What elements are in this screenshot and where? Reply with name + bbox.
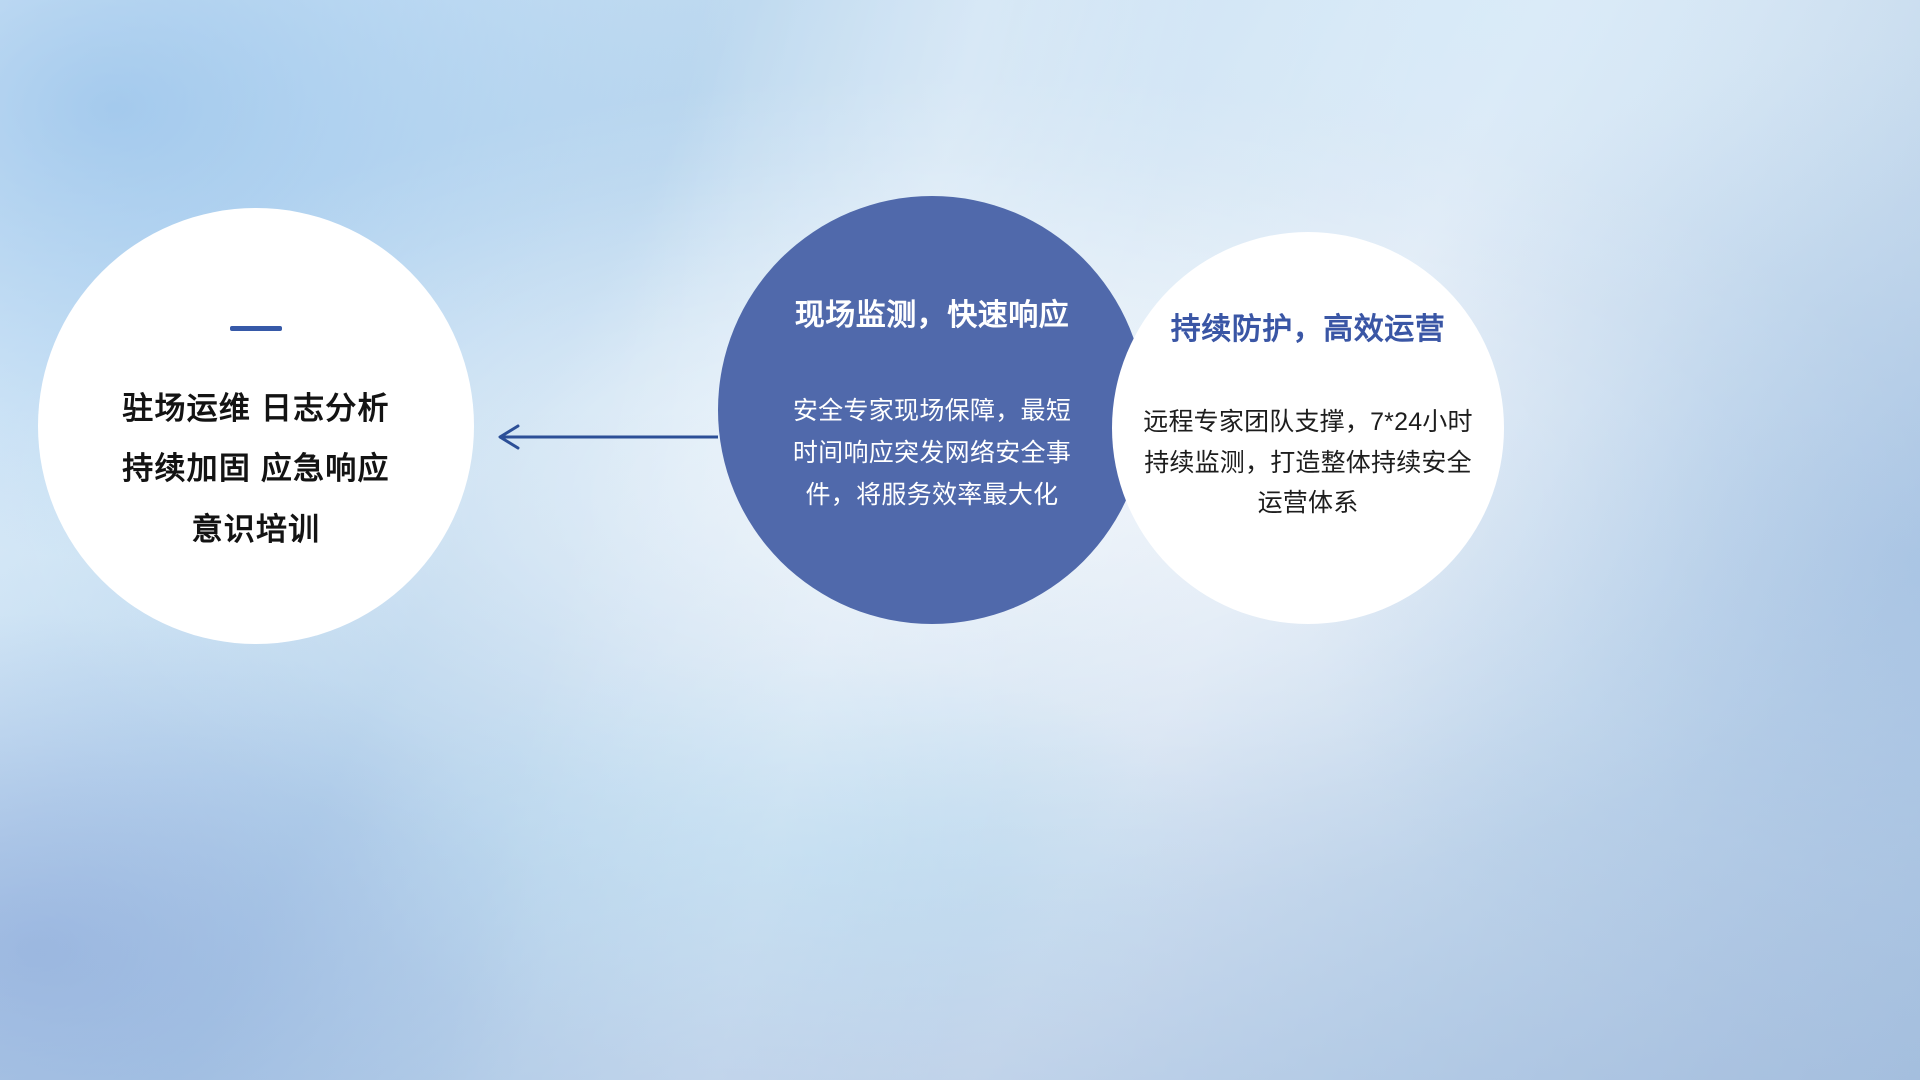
- blue-dash-divider-icon: [230, 326, 282, 331]
- right-continuous-protection-circle[interactable]: 持续防护，高效运营 远程专家团队支撑，7*24小时持续监测，打造整体持续安全运营…: [1112, 232, 1504, 624]
- middle-card-body: 安全专家现场保障，最短时间响应突发网络安全事件，将服务效率最大化: [782, 390, 1082, 516]
- middle-card-title: 现场监测，快速响应: [795, 290, 1070, 334]
- keyword-row: 意识培训: [122, 500, 389, 560]
- keyword-row: 持续加固 应急响应: [122, 439, 389, 499]
- keyword-row: 驻场运维 日志分析: [122, 379, 389, 439]
- arrow-connector: [480, 406, 720, 468]
- keyword-list: 驻场运维 日志分析 持续加固 应急响应 意识培训: [122, 379, 389, 560]
- infographic-canvas: 驻场运维 日志分析 持续加固 应急响应 意识培训 现场监测，快速响应 安全专家现…: [0, 0, 1920, 1080]
- middle-onsite-monitoring-circle[interactable]: 现场监测，快速响应 安全专家现场保障，最短时间响应突发网络安全事件，将服务效率最…: [718, 196, 1146, 624]
- left-keyword-circle[interactable]: 驻场运维 日志分析 持续加固 应急响应 意识培训: [38, 208, 474, 644]
- right-card-body: 远程专家团队支撑，7*24小时持续监测，打造整体持续安全运营体系: [1134, 402, 1482, 524]
- right-card-title: 持续防护，高效运营: [1171, 304, 1446, 348]
